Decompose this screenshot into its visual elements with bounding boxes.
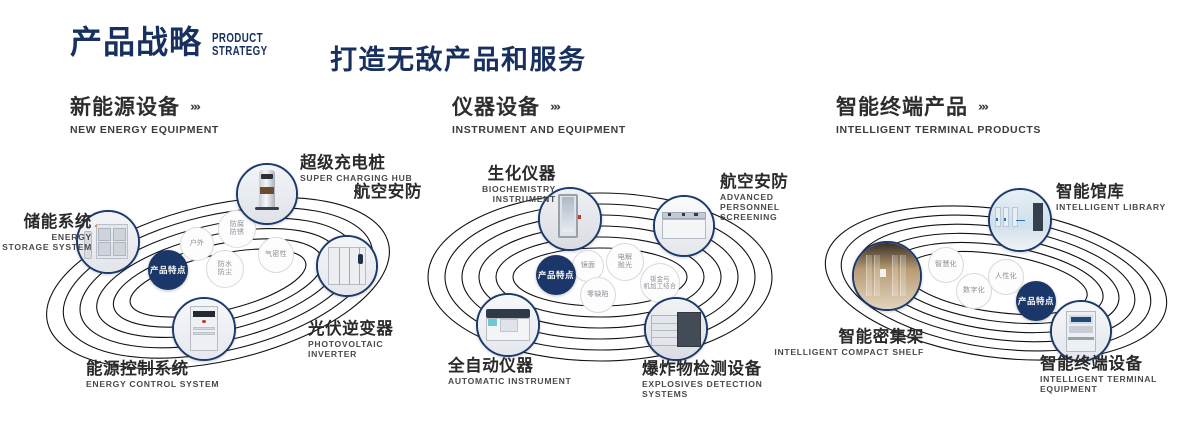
node-intelligent-compact-shelf[interactable] (852, 241, 922, 311)
section-title-cn: 新能源设备 ››› (70, 96, 219, 119)
feature-bubble-label: 气密性 (265, 251, 287, 259)
feature-bubble-label: 零缺陷 (587, 291, 609, 299)
section-title-cn-text: 仪器设备 (452, 96, 540, 119)
page-title: 产品战略 PRODUCT STRATEGY (70, 26, 283, 58)
label-cn: 储能系统 (2, 213, 92, 231)
core-bubble-label: 产品特点 (150, 265, 186, 275)
label-super-charging-hub: 超级充电桩 SUPER CHARGING HUB (300, 154, 412, 184)
node-automatic-instrument[interactable] (476, 293, 540, 357)
label-explosives-detection-systems: 爆炸物检测设备 EXPLOSIVES DETECTION SYSTEMS (642, 360, 800, 400)
core-bubble-product-features: 产品特点 (148, 250, 188, 290)
label-en: ADVANCED PERSONNEL SCREENING (720, 193, 800, 222)
section-header-new-energy: 新能源设备 ››› NEW ENERGY EQUIPMENT (70, 96, 219, 136)
node-photovoltaic-inverter[interactable] (316, 235, 378, 297)
feature-bubble: 零缺陷 (580, 277, 616, 313)
feature-bubble-label: 镜面 (581, 262, 596, 270)
label-cn: 智能密集架 (772, 328, 924, 346)
label-energy-storage-system: 储能系统 ENERGY STORAGE SYSTEM (2, 213, 92, 253)
section-header-instrument: 仪器设备 ››› INSTRUMENT AND EQUIPMENT (452, 96, 626, 136)
label-intelligent-compact-shelf: 智能密集架 INTELLIGENT COMPACT SHELF (772, 328, 924, 358)
node-explosives-detection-systems[interactable] (644, 297, 708, 361)
feature-bubble-label: 电解 抛光 (618, 254, 633, 271)
core-bubble-product-features: 产品特点 (1016, 281, 1056, 321)
chevron-right-icon: ››› (978, 101, 987, 114)
label-intelligent-terminal-equipment: 智能终端设备 INTELLIGENT TERMINAL EQUIPMENT (1040, 355, 1200, 395)
feature-bubble-label: 数字化 (963, 287, 985, 295)
feature-bubble: 数字化 (956, 273, 992, 309)
label-biochemistry-instrument: 生化仪器 BIOCHEMISTRY INSTRUMENT (426, 165, 556, 205)
photovoltaic-inverter-photo (318, 237, 376, 295)
label-en: ENERGY STORAGE SYSTEM (2, 233, 92, 252)
section-header-intelligent-terminal: 智能终端产品 ››› INTELLIGENT TERMINAL PRODUCTS (836, 96, 1041, 136)
feature-bubble-label: 智慧化 (935, 261, 957, 269)
super-charging-hub-photo (238, 165, 296, 223)
product-strategy-infographic: 产品战略 PRODUCT STRATEGY 打造无敌产品和服务 新能源设备 ››… (0, 0, 1200, 422)
automatic-instrument-photo (478, 295, 538, 355)
section-title-cn-text: 智能终端产品 (836, 96, 968, 119)
advanced-personnel-screening-photo (655, 197, 713, 255)
node-energy-control-system[interactable] (172, 297, 236, 361)
feature-bubble-label: 人性化 (995, 273, 1017, 281)
node-advanced-personnel-screening[interactable] (653, 195, 715, 257)
intelligent-compact-shelf-photo (854, 243, 920, 309)
label-cn: 全自动仪器 (448, 357, 571, 375)
label-intelligent-library: 智能馆库 INTELLIGENT LIBRARY (1056, 183, 1166, 213)
page-title-cn: 产品战略 (70, 26, 202, 58)
feature-bubble-label: 防水 防尘 (218, 261, 233, 278)
node-intelligent-library[interactable] (988, 188, 1052, 252)
explosives-detection-photo (646, 299, 706, 359)
node-super-charging-hub[interactable] (236, 163, 298, 225)
feature-bubble: 电解 抛光 (606, 243, 644, 281)
label-en: AUTOMATIC INSTRUMENT (448, 377, 571, 387)
section-title-en: INTELLIGENT TERMINAL PRODUCTS (836, 124, 1041, 136)
page-subtitle: 打造无敌产品和服务 (330, 38, 587, 77)
label-cn: 能源控制系统 (86, 360, 219, 378)
core-bubble-product-features: 产品特点 (536, 255, 576, 295)
label-advanced-personnel-screening: 航空安防 ADVANCED PERSONNEL SCREENING (720, 173, 800, 222)
page-title-en-line1: PRODUCT (212, 32, 267, 45)
label-cn: 航空安防 (720, 173, 800, 191)
label-en: INTELLIGENT COMPACT SHELF (772, 348, 924, 358)
feature-bubble: 户外 (180, 227, 214, 261)
section-title-cn-text: 新能源设备 (70, 96, 180, 119)
node-intelligent-terminal-equipment[interactable] (1050, 300, 1112, 362)
section-title-cn: 仪器设备 ››› (452, 96, 626, 119)
feature-bubble-label: 钣金与 机加工结合 (644, 276, 677, 291)
label-aviation-security-left: 航空安防 (312, 183, 422, 201)
feature-bubble: 防水 防尘 (206, 250, 244, 288)
feature-bubble: 气密性 (258, 237, 294, 273)
label-en: INTELLIGENT LIBRARY (1056, 203, 1166, 213)
cluster-intelligent-terminal: 智慧化 数字化 人性化 产品特点 (800, 155, 1200, 415)
intelligent-library-photo (990, 190, 1050, 250)
page-title-en-line2: STRATEGY (212, 45, 267, 58)
label-cn: 爆炸物检测设备 (642, 360, 800, 378)
label-en: INTELLIGENT TERMINAL EQUIPMENT (1040, 375, 1200, 394)
section-title-cn: 智能终端产品 ››› (836, 96, 1041, 119)
label-cn: 智能终端设备 (1040, 355, 1200, 373)
feature-bubble-label: 防腐 防锈 (230, 221, 245, 238)
intelligent-terminal-equipment-photo (1052, 302, 1110, 360)
cluster-instrument: 镜面 电解 抛光 零缺陷 钣金与 机加工结合 产品特点 (400, 155, 800, 415)
label-en: ENERGY CONTROL SYSTEM (86, 380, 219, 390)
label-automatic-instrument: 全自动仪器 AUTOMATIC INSTRUMENT (448, 357, 571, 387)
energy-control-system-photo (174, 299, 234, 359)
label-cn: 智能馆库 (1056, 183, 1166, 201)
core-bubble-label: 产品特点 (1018, 296, 1054, 306)
label-cn: 生化仪器 (426, 165, 556, 183)
feature-bubble: 智慧化 (928, 247, 964, 283)
label-en: BIOCHEMISTRY INSTRUMENT (426, 185, 556, 204)
chevron-right-icon: ››› (550, 101, 559, 114)
label-cn: 航空安防 (312, 183, 422, 201)
chevron-right-icon: ››› (190, 101, 199, 114)
label-en: EXPLOSIVES DETECTION SYSTEMS (642, 380, 800, 399)
core-bubble-label: 产品特点 (538, 270, 574, 280)
page-title-en: PRODUCT STRATEGY (212, 32, 267, 57)
section-title-en: NEW ENERGY EQUIPMENT (70, 124, 219, 136)
label-energy-control-system: 能源控制系统 ENERGY CONTROL SYSTEM (86, 360, 219, 390)
section-title-en: INSTRUMENT AND EQUIPMENT (452, 124, 626, 136)
label-cn: 超级充电桩 (300, 154, 412, 172)
feature-bubble-label: 户外 (190, 240, 205, 248)
